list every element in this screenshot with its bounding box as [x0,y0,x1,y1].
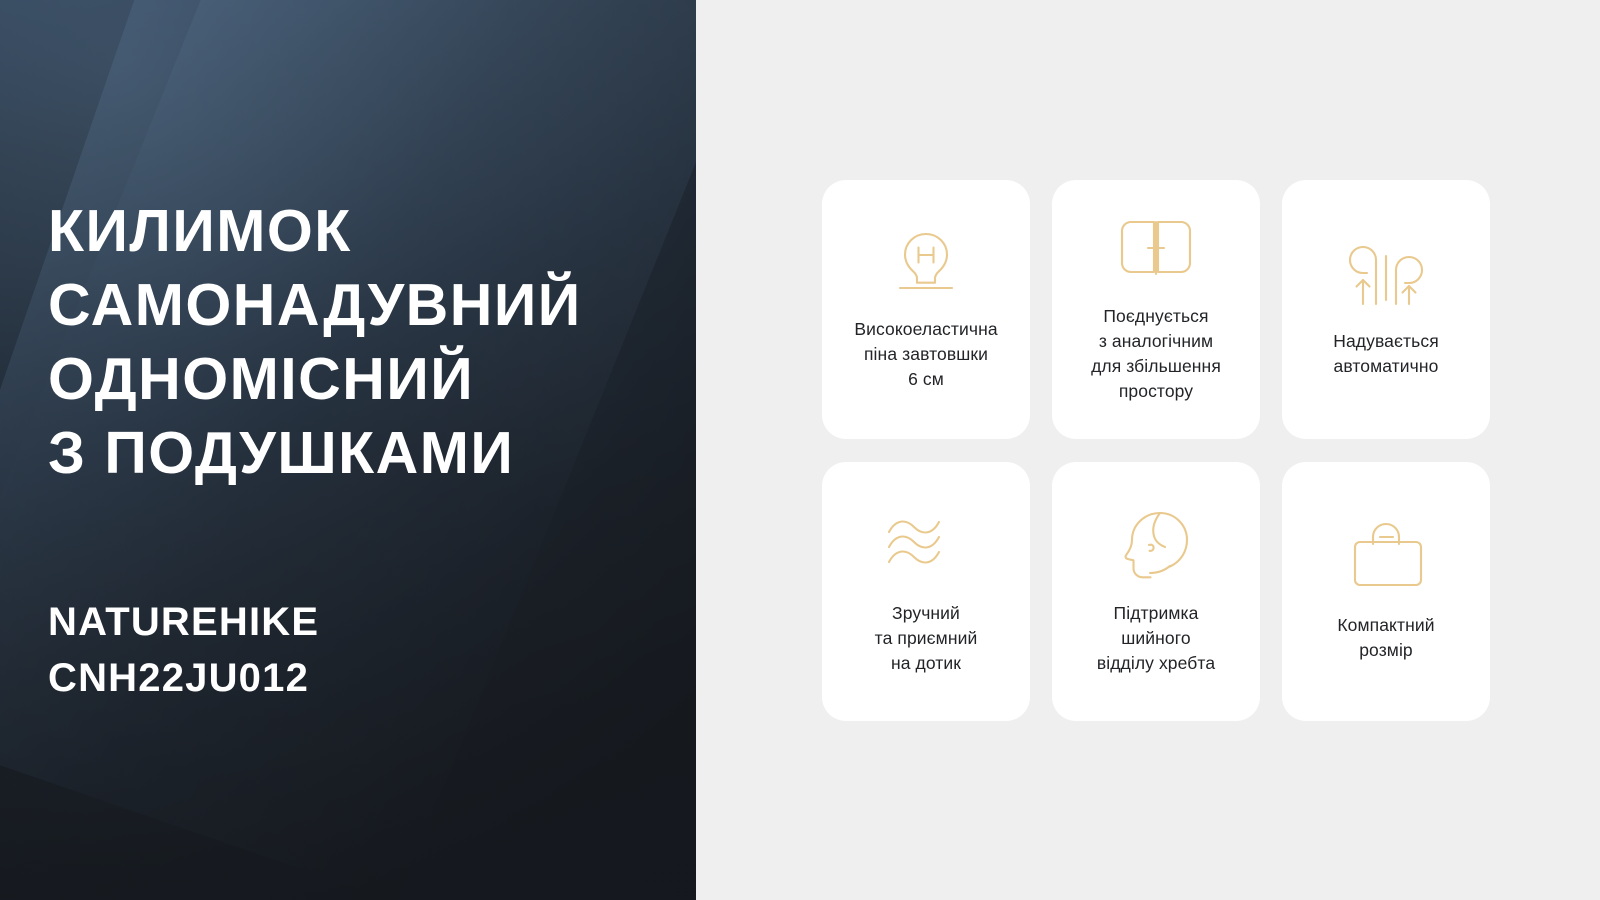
feature-card-autoinflate[interactable]: Надувається автоматично [1282,180,1490,439]
features-panel: Високоеластична піна завтовшки 6 см Поєд… [696,0,1600,900]
brand-block: NATUREHIKE CNH22JU012 [48,594,648,706]
feature-card-label: Компактний розмір [1337,613,1434,663]
brand-name: NATUREHIKE [48,594,648,650]
neck-support-head-icon [1116,505,1196,583]
feature-card-connect[interactable]: Поєднується з аналогічним для збільшення… [1052,180,1260,439]
feature-card-label: Поєднується з аналогічним для збільшення… [1091,304,1221,404]
connect-two-mats-icon [1115,212,1197,290]
high-elastic-foam-icon [887,225,965,303]
compact-bag-icon [1348,517,1424,595]
hero-panel: КИЛИМОК САМОНАДУВНИЙ ОДНОМІСНИЙ З ПОДУШК… [0,0,696,900]
product-title: КИЛИМОК САМОНАДУВНИЙ ОДНОМІСНИЙ З ПОДУШК… [48,194,648,490]
hero-content: КИЛИМОК САМОНАДУВНИЙ ОДНОМІСНИЙ З ПОДУШК… [0,0,696,900]
feature-card-foam[interactable]: Високоеластична піна завтовшки 6 см [822,180,1030,439]
feature-card-label: Високоеластична піна завтовшки 6 см [854,317,997,392]
feature-card-label: Надувається автоматично [1333,329,1439,379]
auto-inflate-icon [1345,237,1427,315]
model-code: CNH22JU012 [48,650,648,706]
product-banner: КИЛИМОК САМОНАДУВНИЙ ОДНОМІСНИЙ З ПОДУШК… [0,0,1600,900]
feature-card-label: Зручний та приємний на дотик [875,601,978,676]
feature-card-softtouch[interactable]: Зручний та приємний на дотик [822,462,1030,721]
feature-card-compact[interactable]: Компактний розмір [1282,462,1490,721]
feature-card-necksupport[interactable]: Підтримка шийного відділу хребта [1052,462,1260,721]
feature-card-grid: Високоеластична піна завтовшки 6 см Поєд… [822,180,1490,721]
soft-touch-waves-icon [885,505,967,583]
feature-card-label: Підтримка шийного відділу хребта [1097,601,1215,676]
